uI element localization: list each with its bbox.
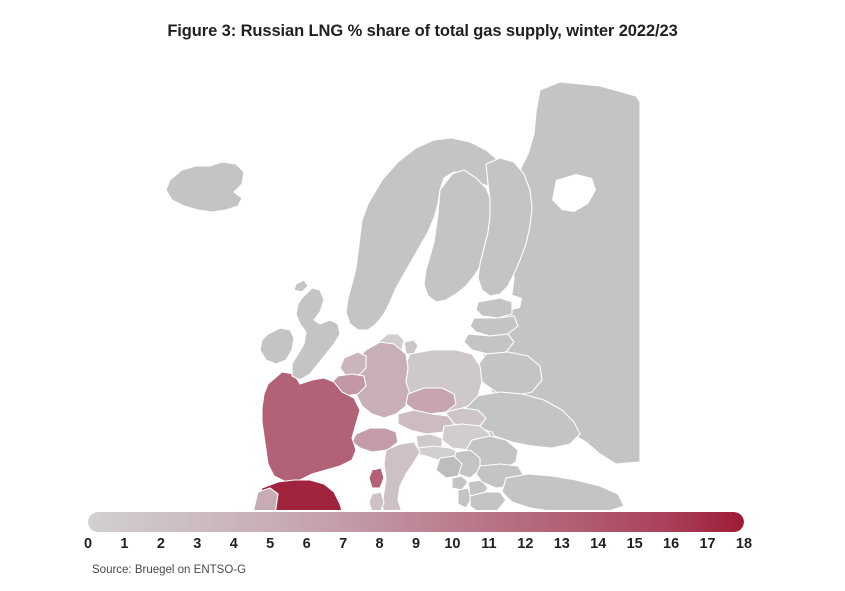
legend-tick-18: 18	[736, 536, 752, 552]
legend-tick-14: 14	[590, 536, 606, 552]
legend-tick-12: 12	[517, 536, 533, 552]
region-ireland	[260, 328, 294, 364]
legend-tick-8: 8	[376, 536, 384, 552]
legend-tick-10: 10	[444, 536, 460, 552]
legend-tick-6: 6	[303, 536, 311, 552]
legend-tick-15: 15	[627, 536, 643, 552]
legend-tick-0: 0	[84, 536, 92, 552]
figure-root: Figure 3: Russian LNG % share of total g…	[0, 0, 845, 591]
legend-tick-2: 2	[157, 536, 165, 552]
region-corsica	[369, 468, 384, 488]
legend: 0123456789101112131415161718	[0, 508, 845, 568]
legend-tick-9: 9	[412, 536, 420, 552]
legend-tick-7: 7	[339, 536, 347, 552]
map-svg	[0, 62, 845, 510]
legend-tick-13: 13	[554, 536, 570, 552]
region-iceland	[166, 162, 244, 212]
legend-tick-11: 11	[481, 536, 496, 552]
choropleth-map	[0, 62, 845, 510]
region-portugal	[252, 488, 278, 510]
region-united-kingdom	[292, 288, 340, 380]
legend-tick-1: 1	[120, 536, 128, 552]
legend-tick-3: 3	[193, 536, 201, 552]
region-estonia	[476, 298, 512, 318]
legend-tick-5: 5	[266, 536, 274, 552]
legend-tick-16: 16	[663, 536, 679, 552]
region-netherlands	[340, 352, 366, 376]
legend-colorbar	[88, 512, 744, 532]
page-title: Figure 3: Russian LNG % share of total g…	[0, 22, 845, 41]
legend-tick-labels: 0123456789101112131415161718	[88, 536, 744, 556]
legend-tick-4: 4	[230, 536, 238, 552]
region-italy	[382, 442, 420, 510]
region-denmark-isles	[404, 340, 418, 354]
region-montenegro	[452, 476, 468, 490]
legend-gradient	[88, 512, 744, 532]
region-lithuania	[464, 334, 514, 354]
region-turkey	[502, 474, 624, 510]
source-note: Source: Bruegel on ENTSO-G	[92, 564, 246, 576]
legend-tick-17: 17	[699, 536, 715, 552]
region-scotland-isles	[294, 280, 308, 292]
